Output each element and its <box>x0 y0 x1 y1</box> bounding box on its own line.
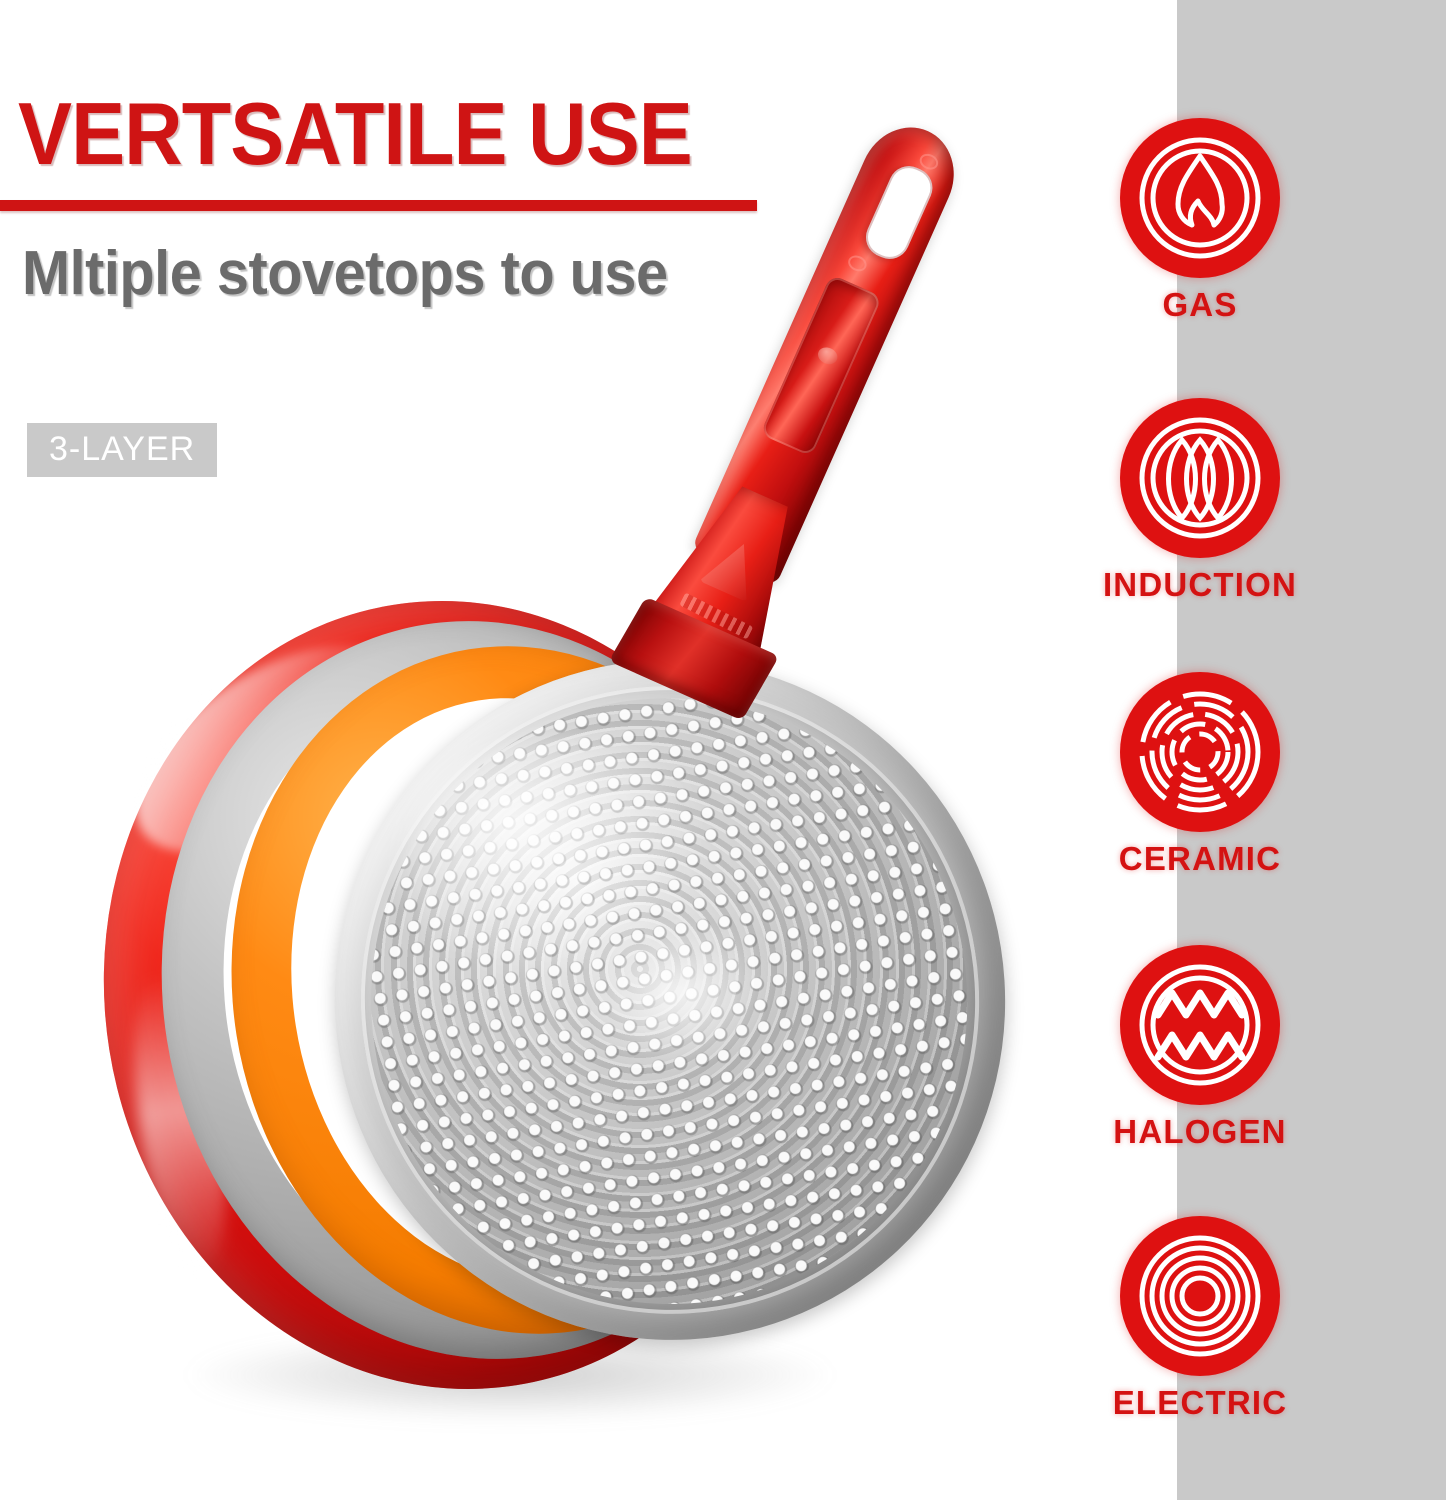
stovetop-label-ceramic: CERAMIC <box>1080 842 1320 875</box>
flame-icon <box>1120 118 1280 278</box>
stovetop-item-halogen: HALOGEN <box>1080 945 1320 1148</box>
stovetop-label-halogen: HALOGEN <box>1080 1115 1320 1148</box>
product-feature-image: VERTSATILE USE Mltiple stovetops to use … <box>0 0 1446 1500</box>
concentric-rings-icon <box>1120 1216 1280 1376</box>
stovetop-item-electric: ELECTRIC <box>1080 1216 1320 1419</box>
pan-illustration <box>0 0 1177 1500</box>
stovetop-label-electric: ELECTRIC <box>1080 1386 1320 1419</box>
induction-coil-icon <box>1120 398 1280 558</box>
stovetop-compatibility-list: GAS INDUCTION <box>1080 0 1320 1500</box>
dashed-concentric-rings-icon <box>1120 672 1280 832</box>
zigzag-waves-icon <box>1120 945 1280 1105</box>
stovetop-item-induction: INDUCTION <box>1080 398 1320 601</box>
stovetop-label-induction: INDUCTION <box>1080 568 1320 601</box>
stovetop-label-gas: GAS <box>1080 288 1320 321</box>
stovetop-item-gas: GAS <box>1080 118 1320 321</box>
pan-handle <box>603 95 1002 712</box>
pan-base-dimple-texture <box>327 655 1010 1347</box>
stovetop-item-ceramic: CERAMIC <box>1080 672 1320 875</box>
